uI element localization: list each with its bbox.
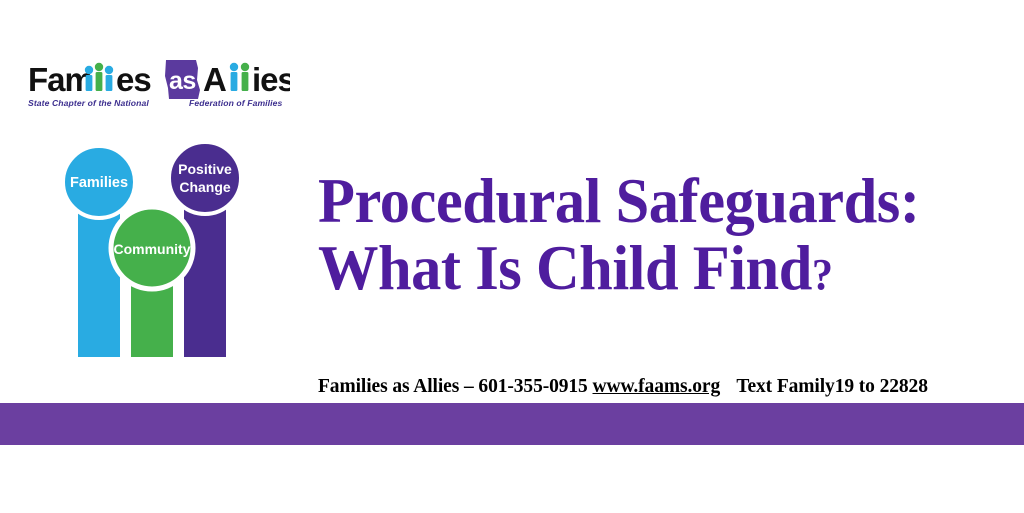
- title-line-2-text: What Is Child Find: [318, 233, 812, 303]
- title-line-2: What Is Child Find?: [318, 235, 952, 308]
- title-question-mark: ?: [812, 250, 833, 299]
- figure-body-positive-change: [182, 200, 228, 359]
- logo-tagline-left: State Chapter of the National: [28, 98, 149, 108]
- logo-tagline: State Chapter of the National Federation…: [28, 98, 290, 112]
- figure-head-positive-change: [169, 142, 241, 214]
- logo-text-a: A: [203, 61, 226, 98]
- figure-label-change: Change: [179, 179, 231, 195]
- three-people-graphic-svg: Families Community Positive Change: [58, 140, 254, 362]
- logo-text-fam: Fam: [28, 61, 93, 98]
- contact-website-link[interactable]: www.faams.org: [593, 376, 721, 397]
- contact-phone: 601-355-0915: [478, 376, 587, 397]
- flyer-page: Fam es as A: [0, 0, 1024, 513]
- figure-label-families: Families: [70, 175, 128, 191]
- logo-text-es-1: es: [116, 61, 151, 98]
- organization-logo: Fam es as A: [28, 58, 290, 116]
- contact-organization: Families as Allies: [318, 376, 459, 397]
- contact-info-line: Families as Allies – 601-355-0915 www.fa…: [318, 376, 928, 398]
- page-title: Procedural Safeguards: What Is Child Fin…: [318, 168, 978, 308]
- logo-wordmark-svg: Fam es as A: [28, 58, 290, 100]
- contact-dash: –: [464, 376, 474, 397]
- purple-footer-bar: [0, 403, 1024, 445]
- logo-tagline-right: Federation of Families: [189, 98, 282, 108]
- logo-text-as: as: [169, 67, 196, 95]
- logo-text-ies: ies: [252, 61, 290, 98]
- figure-label-community: Community: [114, 241, 191, 257]
- figure-label-positive: Positive: [178, 161, 232, 177]
- logo-wordmark: Fam es as A: [28, 58, 290, 98]
- three-people-graphic: Families Community Positive Change: [58, 140, 254, 362]
- logo-people-figures-families: [85, 63, 113, 91]
- contact-text-instruction: Text Family19 to 22828: [736, 376, 928, 397]
- logo-people-figures-allies: [230, 63, 249, 91]
- title-line-1: Procedural Safeguards:: [318, 168, 952, 235]
